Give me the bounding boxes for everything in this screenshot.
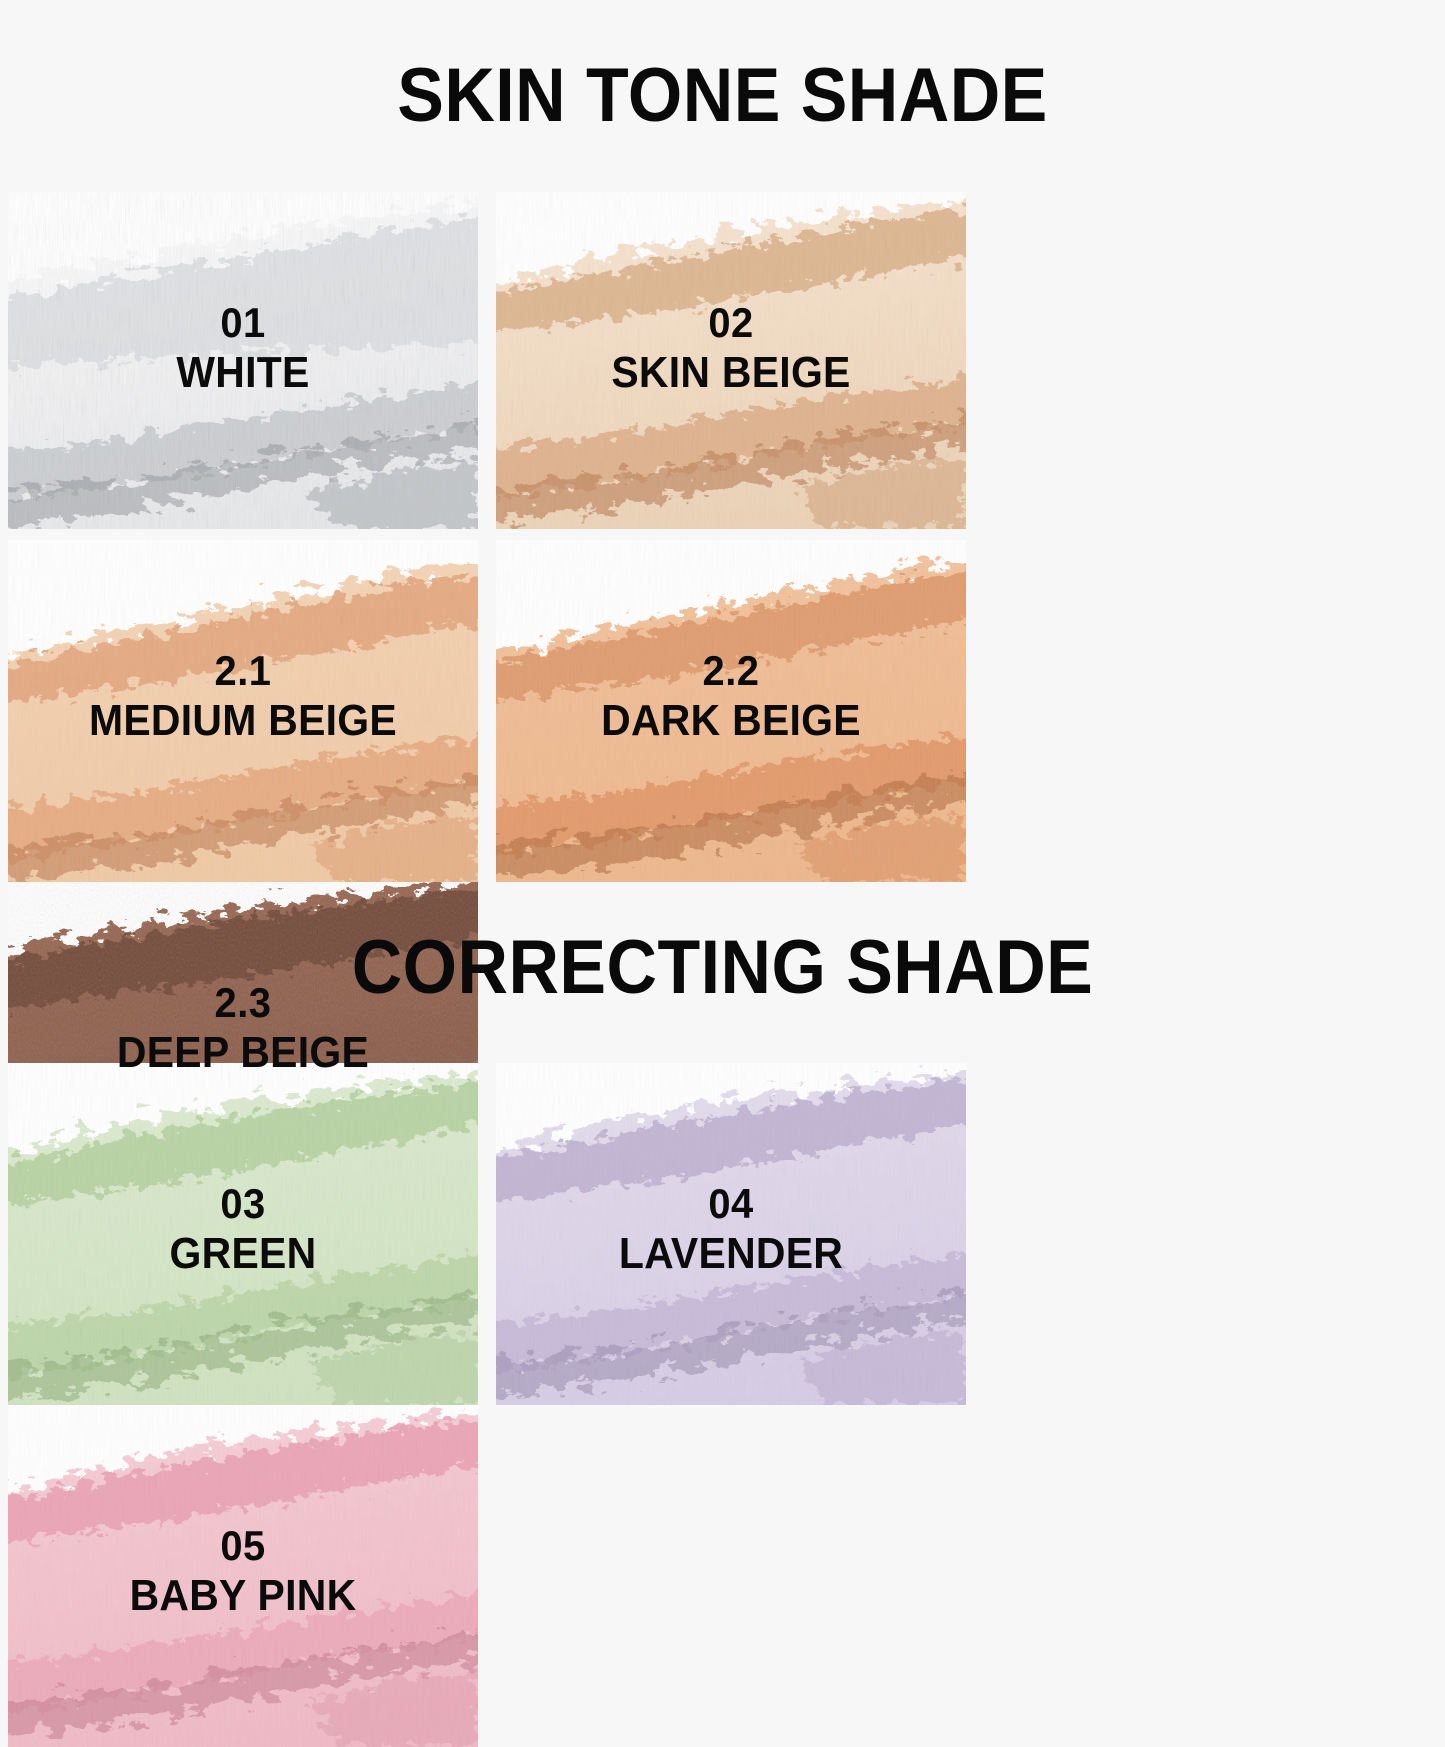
swatch-tile-03-green[interactable]: 03 GREEN [8, 1063, 478, 1405]
swatch-row-correcting: 03 GREEN [8, 1063, 1440, 1747]
swatch-row-skin-tone-top: 01 WHITE [8, 192, 1440, 529]
powder-swatch-medium-beige-image [8, 540, 478, 882]
section-heading-skin-tone: SKIN TONE SHADE [58, 58, 1387, 134]
powder-swatch-baby-pink-image [8, 1405, 478, 1747]
powder-swatch-dark-beige-image [496, 540, 966, 882]
swatch-tile-04-lavender[interactable]: 04 LAVENDER [496, 1063, 966, 1405]
powder-swatch-green-image [8, 1063, 478, 1405]
section-heading-correcting: CORRECTING SHADE [58, 930, 1387, 1006]
powder-swatch-lavender-image [496, 1063, 966, 1405]
powder-swatch-white-image [8, 192, 478, 529]
powder-swatch-skin-beige-image [496, 192, 966, 529]
swatch-tile-21-medium-beige[interactable]: 2.1 MEDIUM BEIGE [8, 540, 478, 882]
swatch-tile-02-skin-beige[interactable]: 02 SKIN BEIGE [496, 192, 966, 529]
shade-guide-page: SKIN TONE SHADE [0, 0, 1445, 1445]
swatch-tile-05-baby-pink[interactable]: 05 BABY PINK [8, 1405, 478, 1747]
swatch-tile-01-white[interactable]: 01 WHITE [8, 192, 478, 529]
swatch-tile-22-dark-beige[interactable]: 2.2 DARK BEIGE [496, 540, 966, 882]
